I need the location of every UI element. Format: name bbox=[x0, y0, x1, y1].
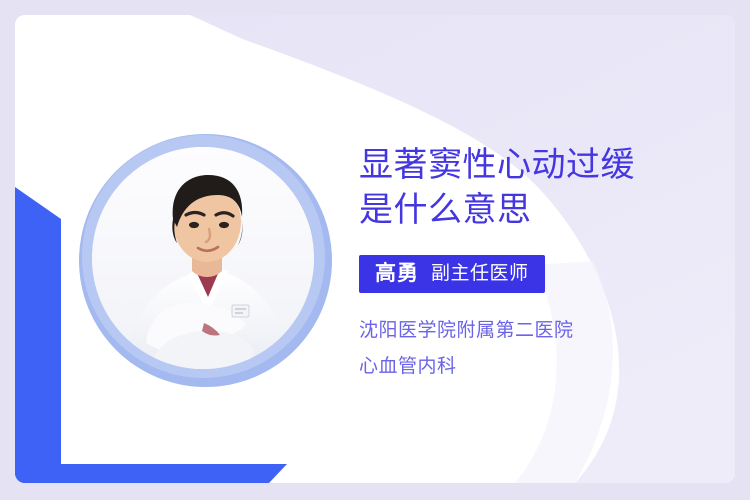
doctor-name: 高勇 bbox=[375, 263, 419, 284]
info-card-canvas: 显著窦性心动过缓 是什么意思 高勇 副主任医师 沈阳医学院附属第二医院 心血管内… bbox=[0, 0, 750, 500]
doctor-portrait-icon bbox=[92, 147, 314, 369]
page-title: 显著窦性心动过缓 是什么意思 bbox=[359, 143, 729, 233]
decor-left-blue-bar bbox=[15, 175, 71, 483]
doctor-hospital: 沈阳医学院附属第二医院 bbox=[359, 313, 729, 349]
doctor-info-card: 显著窦性心动过缓 是什么意思 高勇 副主任医师 沈阳医学院附属第二医院 心血管内… bbox=[15, 15, 735, 483]
avatar-photo bbox=[92, 147, 314, 369]
doctor-credential-badge: 高勇 副主任医师 bbox=[359, 255, 545, 293]
doctor-affiliation: 沈阳医学院附属第二医院 心血管内科 bbox=[359, 313, 729, 385]
decor-bottom-blue-bar bbox=[15, 464, 305, 483]
card-content: 显著窦性心动过缓 是什么意思 高勇 副主任医师 沈阳医学院附属第二医院 心血管内… bbox=[359, 143, 729, 385]
avatar bbox=[79, 134, 332, 387]
doctor-rank: 副主任医师 bbox=[431, 264, 529, 283]
doctor-department: 心血管内科 bbox=[359, 349, 729, 385]
